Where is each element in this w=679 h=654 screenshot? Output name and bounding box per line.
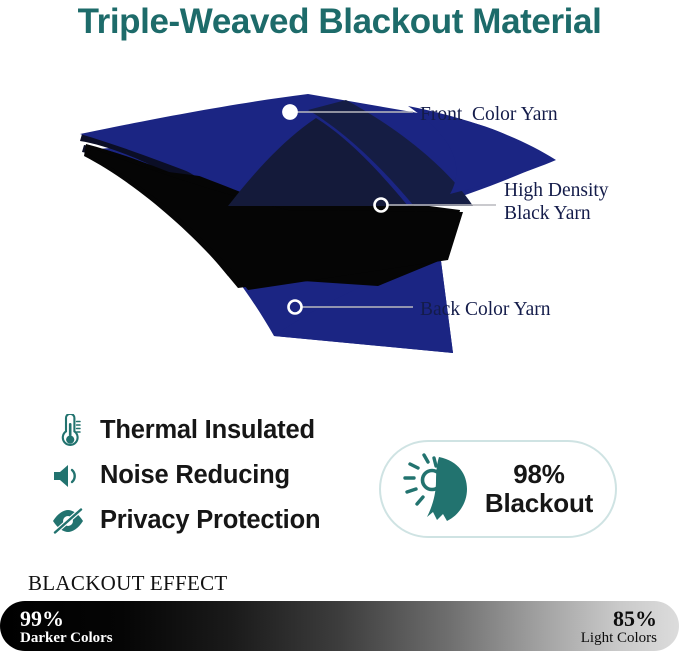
feature-item-noise-reducing: Noise Reducing: [48, 453, 378, 498]
blackout-effect-gradient-bar: 99% Darker Colors 85% Light Colors: [0, 601, 679, 651]
feature-label: Noise Reducing: [100, 461, 290, 490]
blackout-percentage-badge: 98% Blackout: [379, 440, 617, 538]
gradient-bar-right-stat: 85% Light Colors: [581, 607, 657, 647]
feature-list: Thermal Insulated Noise Reducing Privacy…: [48, 408, 378, 543]
badge-text: 98% Blackout: [485, 460, 593, 518]
badge-percent: 98%: [513, 459, 564, 489]
feature-label: Thermal Insulated: [100, 416, 315, 445]
eye-slash-icon: [48, 502, 88, 540]
sun-behind-curtain-icon: [403, 453, 477, 525]
badge-caption: Blackout: [485, 488, 593, 518]
feature-item-privacy-protection: Privacy Protection: [48, 498, 378, 543]
thermometer-icon: [48, 412, 88, 450]
gradient-bar-left-caption: Darker Colors: [20, 630, 113, 647]
gradient-bar-left-stat: 99% Darker Colors: [20, 607, 113, 647]
callout-label-front-color-yarn: Front Color Yarn: [420, 103, 558, 126]
blackout-effect-heading: BLACKOUT EFFECT: [28, 571, 228, 596]
page-title: Triple-Weaved Blackout Material: [0, 2, 679, 42]
feature-label: Privacy Protection: [100, 506, 320, 535]
gradient-bar-left-percent: 99%: [20, 607, 113, 630]
callout-label-high-density-black-yarn: High Density Black Yarn: [504, 179, 609, 225]
gradient-bar-right-caption: Light Colors: [581, 630, 657, 647]
feature-item-thermal-insulated: Thermal Insulated: [48, 408, 378, 453]
gradient-bar-right-percent: 85%: [581, 607, 657, 630]
speaker-sound-icon: [48, 457, 88, 495]
callout-label-back-color-yarn: Back Color Yarn: [420, 298, 551, 321]
